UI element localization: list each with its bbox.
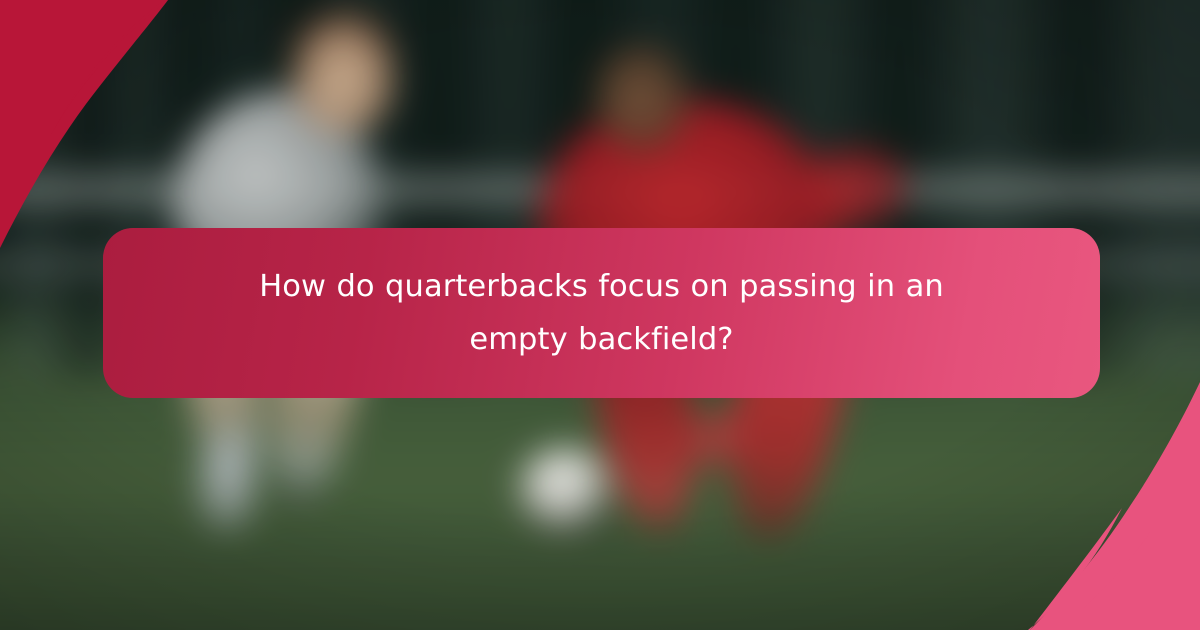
headline-banner: How do quarterbacks focus on passing in … [103,228,1100,398]
headline-title: How do quarterbacks focus on passing in … [222,260,982,366]
social-share-card: How do quarterbacks focus on passing in … [0,0,1200,630]
